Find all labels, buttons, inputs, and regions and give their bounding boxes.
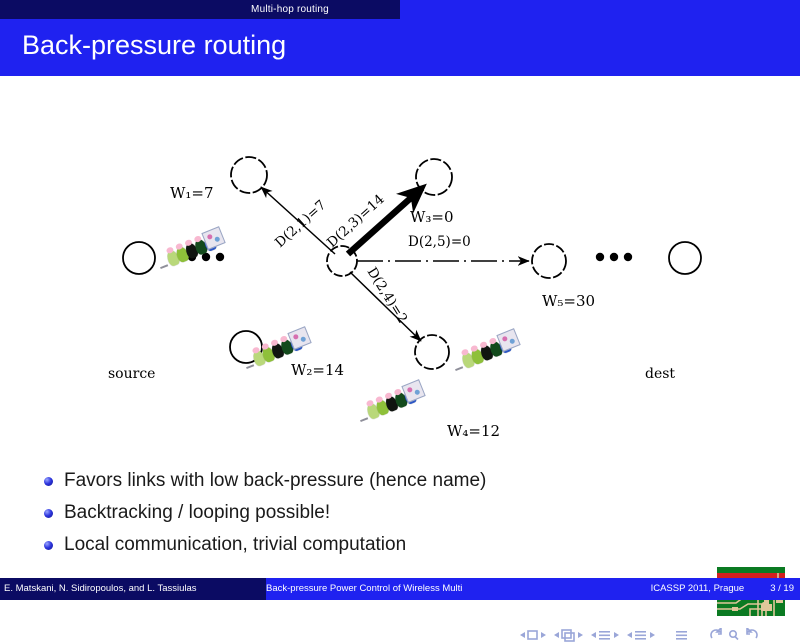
section-tab-label: Multi-hop routing [71, 0, 329, 19]
edge-label-2-3: D(2,3)=14 [324, 191, 388, 251]
nav-prev-subsection-icon [591, 632, 596, 638]
footer-authors: E. Matskani, N. Sidiropoulos, and L. Tas… [0, 578, 266, 600]
bullet-dot-icon [44, 541, 53, 550]
footer-venue: ICASSP 2011, Prague [651, 583, 745, 594]
node-label-2: W₂=14 [291, 361, 344, 379]
nav-prev-section-icon [627, 632, 632, 638]
footline: E. Matskani, N. Sidiropoulos, and L. Tas… [0, 578, 800, 600]
node-label-3: W₃=0 [410, 208, 454, 226]
bullet-text: Local communication, trivial computation [64, 532, 406, 558]
ellipsis-right [596, 253, 632, 261]
page-title: Back-pressure routing [22, 30, 286, 61]
node-3[interactable] [416, 159, 452, 195]
nav-next-subsection-icon [614, 632, 619, 638]
nav-prev-frame-icon [554, 632, 559, 638]
section-bar-right-fill [400, 0, 800, 19]
section-tab[interactable]: Multi-hop routing [0, 0, 400, 19]
node-label-source: source [108, 366, 155, 382]
nav-slide-icon [528, 631, 537, 639]
network-diagram: D(2,1)=7 D(2,3)=14 D(2,5)=0 D(2,4)=2 W₁=… [0, 76, 800, 416]
edge-label-2-5: D(2,5)=0 [408, 234, 471, 250]
node-5[interactable] [532, 244, 566, 278]
nav-next-slide-icon [541, 632, 546, 638]
node-label-1: W₁=7 [170, 184, 214, 202]
footer-paper-title: Back-pressure Power Control of Wireless … [266, 578, 566, 600]
list-item: Favors links with low back-pressure (hen… [44, 468, 704, 494]
node-label-5: W₅=30 [542, 292, 595, 310]
network-graph-svg: D(2,1)=7 D(2,3)=14 D(2,5)=0 D(2,4)=2 [0, 76, 800, 416]
bullet-text: Backtracking / looping possible! [64, 500, 330, 526]
nav-next-section-icon [650, 632, 655, 638]
nav-frame-icon [562, 630, 574, 641]
bullet-dot-icon [44, 509, 53, 518]
nav-back-icon [711, 628, 721, 638]
slide-body: D(2,1)=7 D(2,3)=14 D(2,5)=0 D(2,4)=2 W₁=… [0, 76, 800, 576]
list-item: Local communication, trivial computation [44, 532, 704, 558]
beamer-navigation-symbols[interactable] [520, 628, 790, 642]
list-item: Backtracking / looping possible! [44, 500, 704, 526]
nav-prev-slide-icon [520, 632, 525, 638]
nav-section-icon [635, 631, 646, 640]
edge-label-2-4: D(2,4)=2 [364, 265, 411, 327]
bullet-text: Favors links with low back-pressure (hen… [64, 468, 486, 494]
node-label-4: W₄=12 [447, 422, 500, 440]
footer-venue-page: ICASSP 2011, Prague3 / 19 [566, 578, 800, 600]
node-2[interactable] [327, 246, 357, 276]
node-4[interactable] [415, 335, 449, 369]
node-label-dest: dest [645, 366, 675, 382]
node-dest[interactable] [669, 242, 701, 274]
bullet-list: Favors links with low back-pressure (hen… [44, 468, 704, 564]
nav-search-icon [730, 631, 738, 640]
nav-subsection-icon [599, 631, 610, 640]
node-1[interactable] [231, 157, 267, 193]
nav-document-icon [676, 631, 687, 640]
nav-next-frame-icon [578, 632, 583, 638]
nav-forward-icon [747, 628, 757, 638]
bullet-dot-icon [44, 477, 53, 486]
node-source[interactable] [123, 242, 155, 274]
footer-page-number: 3 / 19 [770, 583, 794, 594]
